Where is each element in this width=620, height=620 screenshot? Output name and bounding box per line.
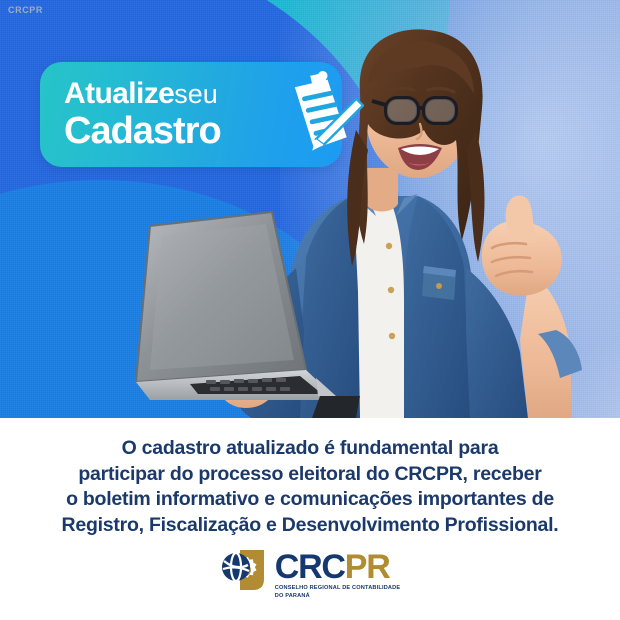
message-section: O cadastro atualizado é fundamental para…	[0, 418, 620, 620]
watermark-label: CRCPR	[8, 5, 43, 15]
body-line-1: O cadastro atualizado é fundamental para	[0, 436, 620, 462]
logo-word-pr: PR	[345, 548, 390, 586]
headline-line-1: Atualizeseu	[64, 76, 221, 112]
logo-subtitle-line-2: DO PARANÁ	[275, 593, 401, 600]
headline-line-2: Cadastro	[64, 110, 221, 153]
headline-text-block: Atualizeseu Cadastro	[64, 76, 221, 153]
headline-badge: Atualizeseu Cadastro	[40, 62, 342, 167]
hero-image-section: Atualizeseu Cadastro	[0, 0, 620, 418]
clipboard-pencil-icon	[268, 70, 364, 166]
body-line-4: Registro, Fiscalização e Desenvolvimento…	[0, 513, 620, 539]
headline-soft: seu	[174, 79, 218, 109]
body-line-2: participar do processo eleitoral do CRCP…	[0, 462, 620, 488]
crcpr-logo: CRCPR CONSELHO REGIONAL DE CONTABILIDADE…	[0, 549, 620, 600]
logo-text-block: CRCPR CONSELHO REGIONAL DE CONTABILIDADE…	[275, 549, 401, 600]
logo-subtitle-line-1: CONSELHO REGIONAL DE CONTABILIDADE	[275, 585, 401, 592]
logo-wordmark: CRCPR	[275, 550, 401, 584]
headline-strong: Atualize	[64, 77, 174, 110]
body-line-3: o boletim informativo e comunicações imp…	[0, 487, 620, 513]
gear-globe-icon	[220, 549, 266, 591]
promotional-poster: Atualizeseu Cadastro	[0, 0, 620, 620]
body-copy: O cadastro atualizado é fundamental para…	[0, 436, 620, 538]
logo-word-crc: CRC	[275, 548, 345, 586]
